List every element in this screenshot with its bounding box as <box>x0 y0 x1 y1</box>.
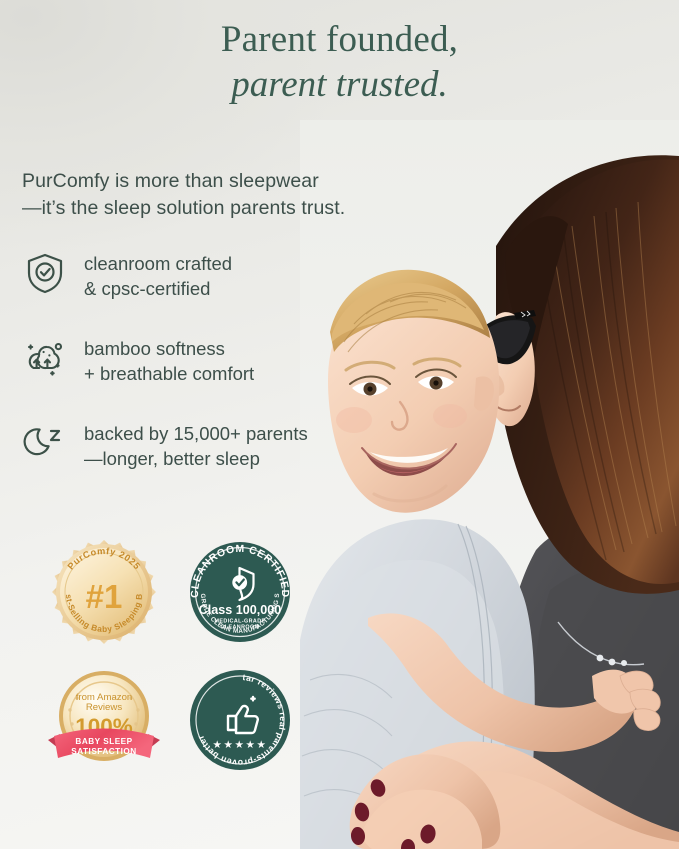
cleanroom-sub-line-2: CLEANROOM <box>221 625 260 631</box>
best-seller-badge: PurComfy 2025 Best-Selling Baby Sleeping… <box>44 536 164 648</box>
best-seller-rank: #1 <box>86 578 123 615</box>
trust-badge-row-1: PurComfy 2025 Best-Selling Baby Sleeping… <box>44 536 300 648</box>
feature-sleep-line-1: backed by 15,000+ parents <box>84 421 308 446</box>
satisfaction-top-line-2: Reviews <box>86 702 122 713</box>
shield-check-icon <box>20 248 70 298</box>
feature-text-sleep: backed by 15,000+ parents —longer, bette… <box>84 418 308 471</box>
headline-line-2: parent trusted. <box>0 62 679 108</box>
feature-item-sleep: backed by 15,000+ parents —longer, bette… <box>20 418 350 471</box>
cleanroom-class: Class 100,000 <box>199 603 282 617</box>
feature-item-cleanroom: cleanroom crafted & cpsc-certified <box>20 248 350 301</box>
feature-cleanroom-line-1: cleanroom crafted <box>84 251 232 276</box>
feature-text-cleanroom: cleanroom crafted & cpsc-certified <box>84 248 232 301</box>
subheadline-line-2: —it’s the sleep solution parents trust. <box>22 195 392 222</box>
feature-bamboo-line-2: + breathable comfort <box>84 361 254 386</box>
subheadline: PurComfy is more than sleepwear —it’s th… <box>22 168 392 222</box>
reviews-stars: ★★★★★ <box>212 739 267 751</box>
feature-list: cleanroom crafted & cpsc-certified <box>20 248 350 503</box>
feature-text-bamboo: bamboo softness + breathable comfort <box>84 333 254 386</box>
satisfaction-ribbon-line-2: SATISFACTION <box>71 747 136 756</box>
hero-photo <box>300 120 679 849</box>
feature-bamboo-line-1: bamboo softness <box>84 336 254 361</box>
bamboo-leaves-icon <box>20 333 70 383</box>
feature-sleep-line-2: —longer, better sleep <box>84 446 308 471</box>
feature-cleanroom-line-2: & cpsc-certified <box>84 276 232 301</box>
cleanroom-certified-badge: CLEANROOM CERTIFIED MEDICAL-GRADE CLEAN … <box>180 536 300 648</box>
headline-line-1: Parent founded, <box>0 18 679 62</box>
feature-item-bamboo: bamboo softness + breathable comfort <box>20 333 350 386</box>
subheadline-line-1: PurComfy is more than sleepwear <box>22 168 392 195</box>
moon-sleep-icon <box>20 418 70 468</box>
trust-badge-group: PurComfy 2025 Best-Selling Baby Sleeping… <box>44 536 300 792</box>
trust-badge-row-2: from Amazon Reviews 100% BABY SLEEP SATI… <box>44 664 300 776</box>
satisfaction-badge: from Amazon Reviews 100% BABY SLEEP SATI… <box>44 664 164 776</box>
reviews-badge: 15,000+ 5 star reviews real parents-prov… <box>180 664 300 776</box>
satisfaction-ribbon-line-1: BABY SLEEP <box>75 737 132 746</box>
marketing-image: Parent founded, parent trusted. PurComfy… <box>0 0 679 849</box>
page-title: Parent founded, parent trusted. <box>0 18 679 108</box>
